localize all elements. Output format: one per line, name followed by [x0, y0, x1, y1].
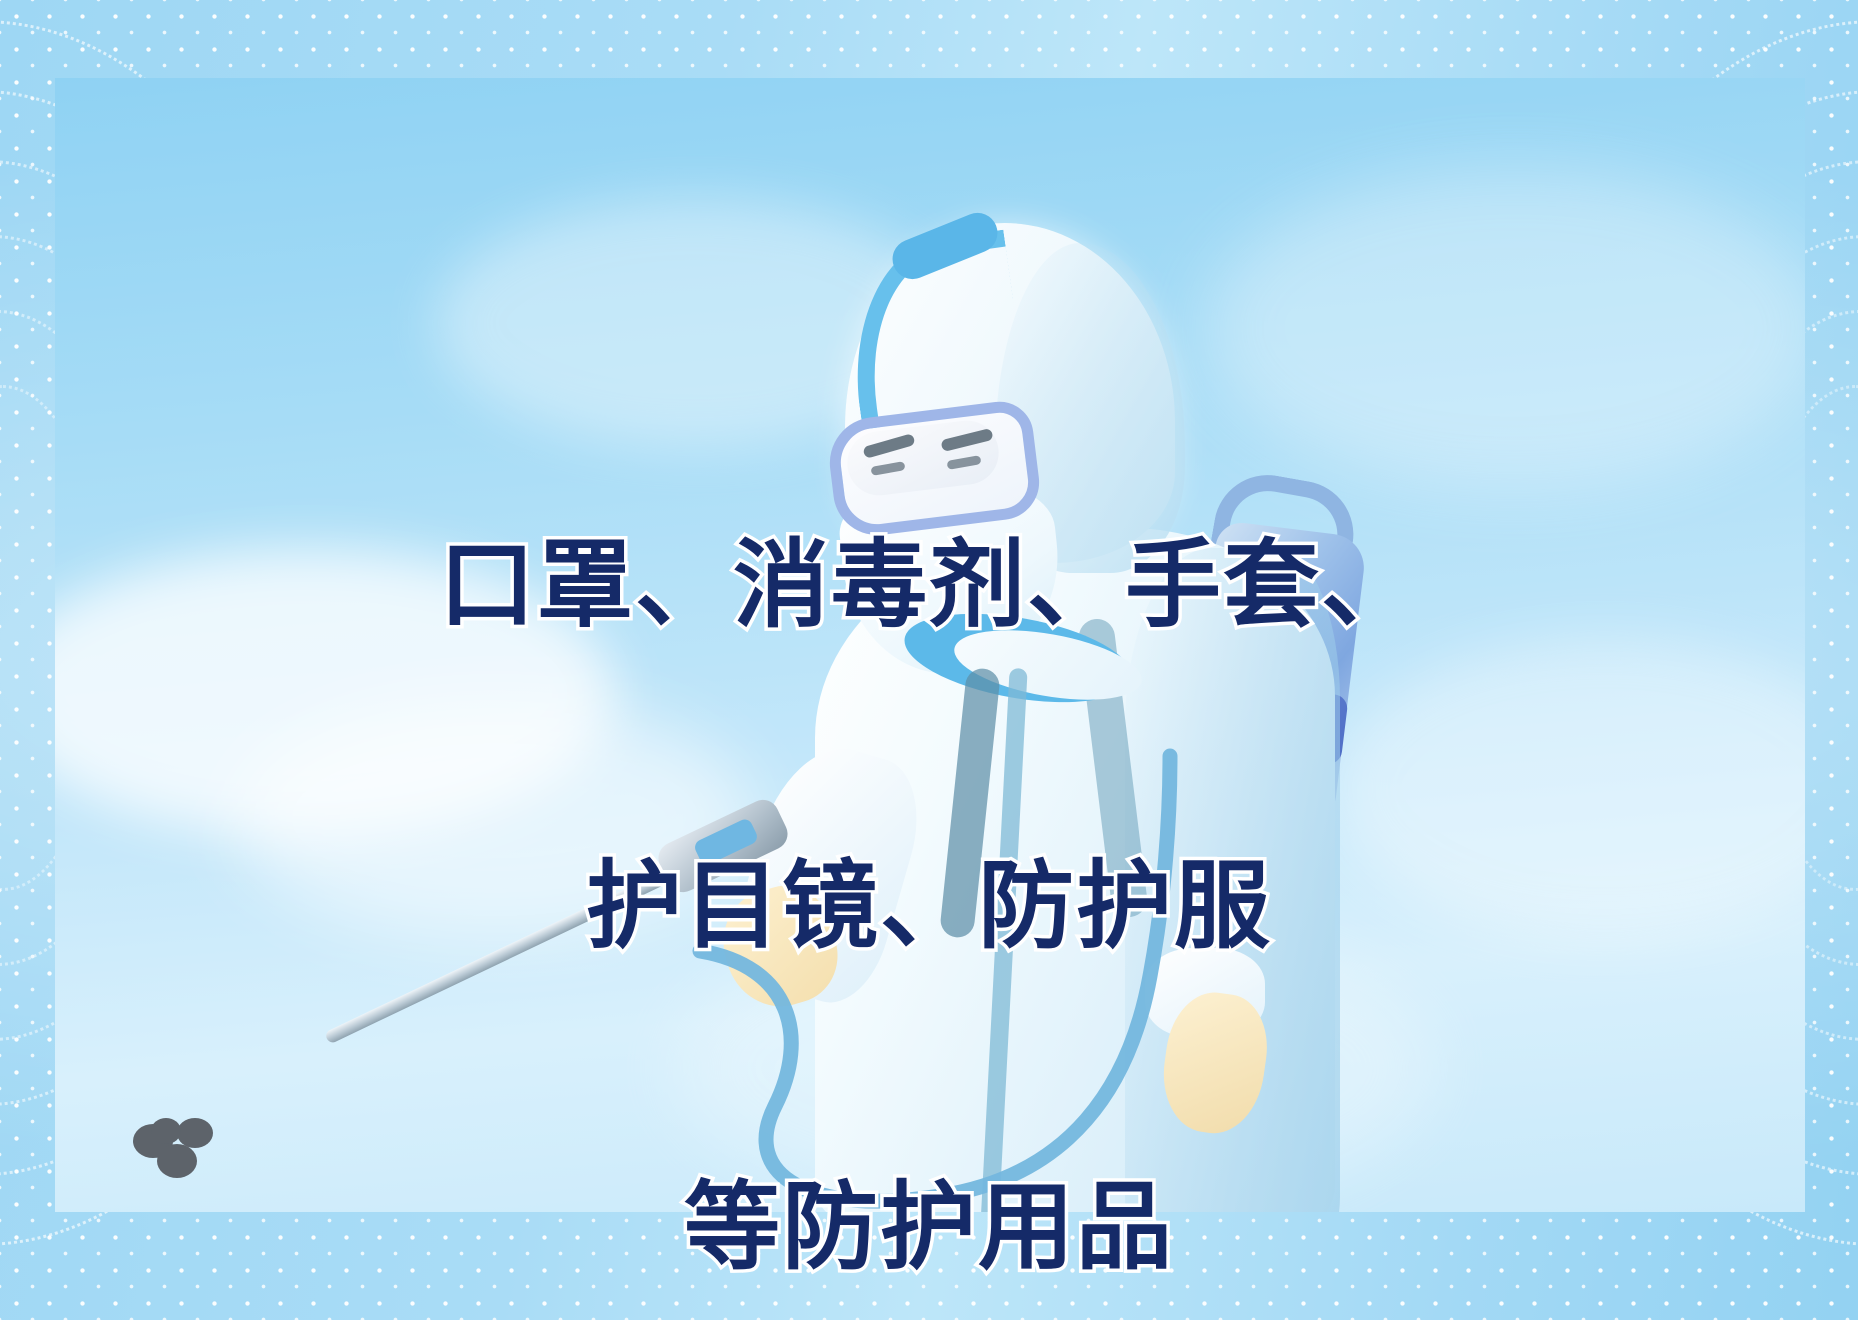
title-line-1: 口罩、消毒剂、手套、	[0, 532, 1858, 639]
page-title: 口罩、消毒剂、手套、 护目镜、防护服 等防护用品 相关国内外标准	[0, 318, 1858, 1320]
title-line-3: 等防护用品	[0, 1174, 1858, 1281]
poster-canvas: 口罩、消毒剂、手套、 护目镜、防护服 等防护用品 相关国内外标准	[0, 0, 1858, 1320]
title-line-2: 护目镜、防护服	[0, 853, 1858, 960]
